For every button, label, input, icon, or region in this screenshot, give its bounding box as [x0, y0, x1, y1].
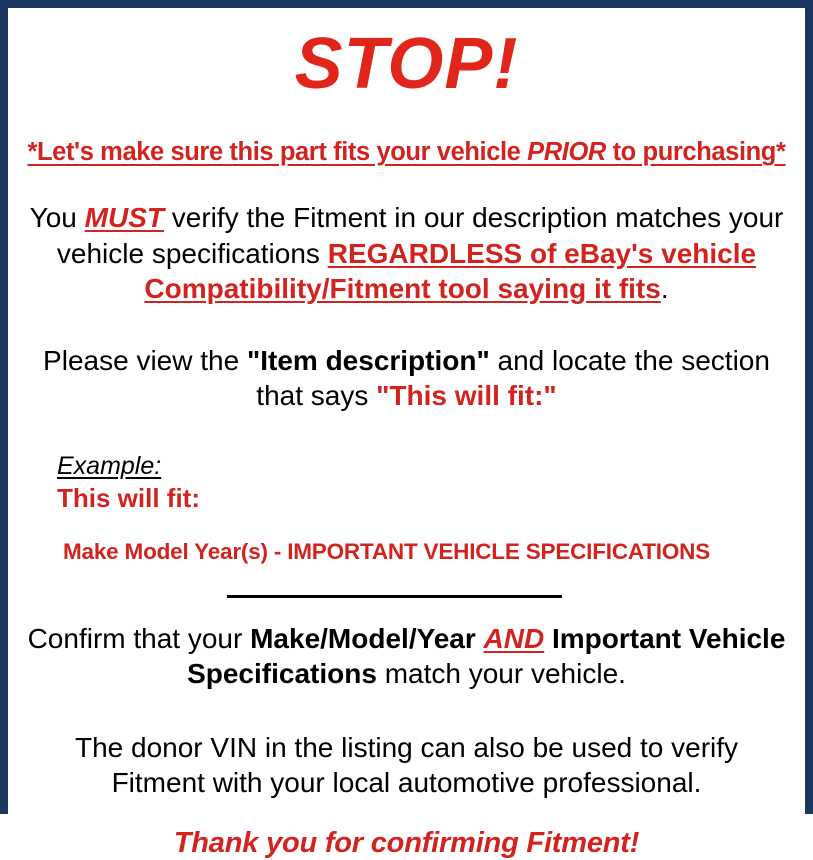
closing-thank-you: Thank you for confirming Fitment!: [13, 827, 800, 860]
paragraph-confirm-match: Confirm that your Make/Model/Year AND Im…: [13, 621, 800, 692]
subtitle-prefix: *Let's make sure this part fits your veh…: [27, 138, 527, 166]
notice-body: STOP! *Let's make sure this part fits yo…: [8, 28, 805, 826]
horizontal-divider: [227, 595, 562, 598]
para1-emphasis-must: MUST: [85, 202, 164, 233]
para2-item-description-label: "Item description": [247, 345, 490, 376]
para3-seg-1: Confirm that your: [28, 623, 251, 654]
para1-seg-5: .: [661, 273, 669, 304]
subtitle-banner: *Let's make sure this part fits your veh…: [13, 138, 800, 166]
page-title: STOP!: [13, 28, 800, 100]
para3-emphasis-and: AND: [484, 623, 545, 654]
para3-seg-5: [544, 623, 552, 654]
para2-seg-1: Please view the: [43, 345, 247, 376]
example-label: Example:: [57, 452, 800, 481]
paragraph-item-description: Please view the "Item description" and l…: [13, 343, 800, 414]
para3-seg-7: match your vehicle.: [377, 658, 626, 689]
para2-this-will-fit-label: "This will fit:": [376, 380, 557, 411]
divider-wrap: [13, 591, 800, 603]
paragraph-verify-fitment: You MUST verify the Fitment in our descr…: [13, 200, 800, 307]
subtitle-emphasis-prior: PRIOR: [527, 138, 606, 166]
example-spec-line: Make Model Year(s) - IMPORTANT VEHICLE S…: [57, 538, 800, 565]
paragraph-donor-vin: The donor VIN in the listing can also be…: [13, 730, 800, 801]
subtitle-suffix: to purchasing*: [606, 138, 786, 166]
para3-seg-3: [476, 623, 484, 654]
example-fit-heading: This will fit:: [57, 483, 800, 514]
fitment-notice-card: STOP! *Let's make sure this part fits yo…: [0, 0, 813, 814]
para3-make-model-year: Make/Model/Year: [250, 623, 476, 654]
para1-seg-1: You: [30, 202, 85, 233]
example-block: Example: This will fit: Make Model Year(…: [13, 452, 800, 565]
